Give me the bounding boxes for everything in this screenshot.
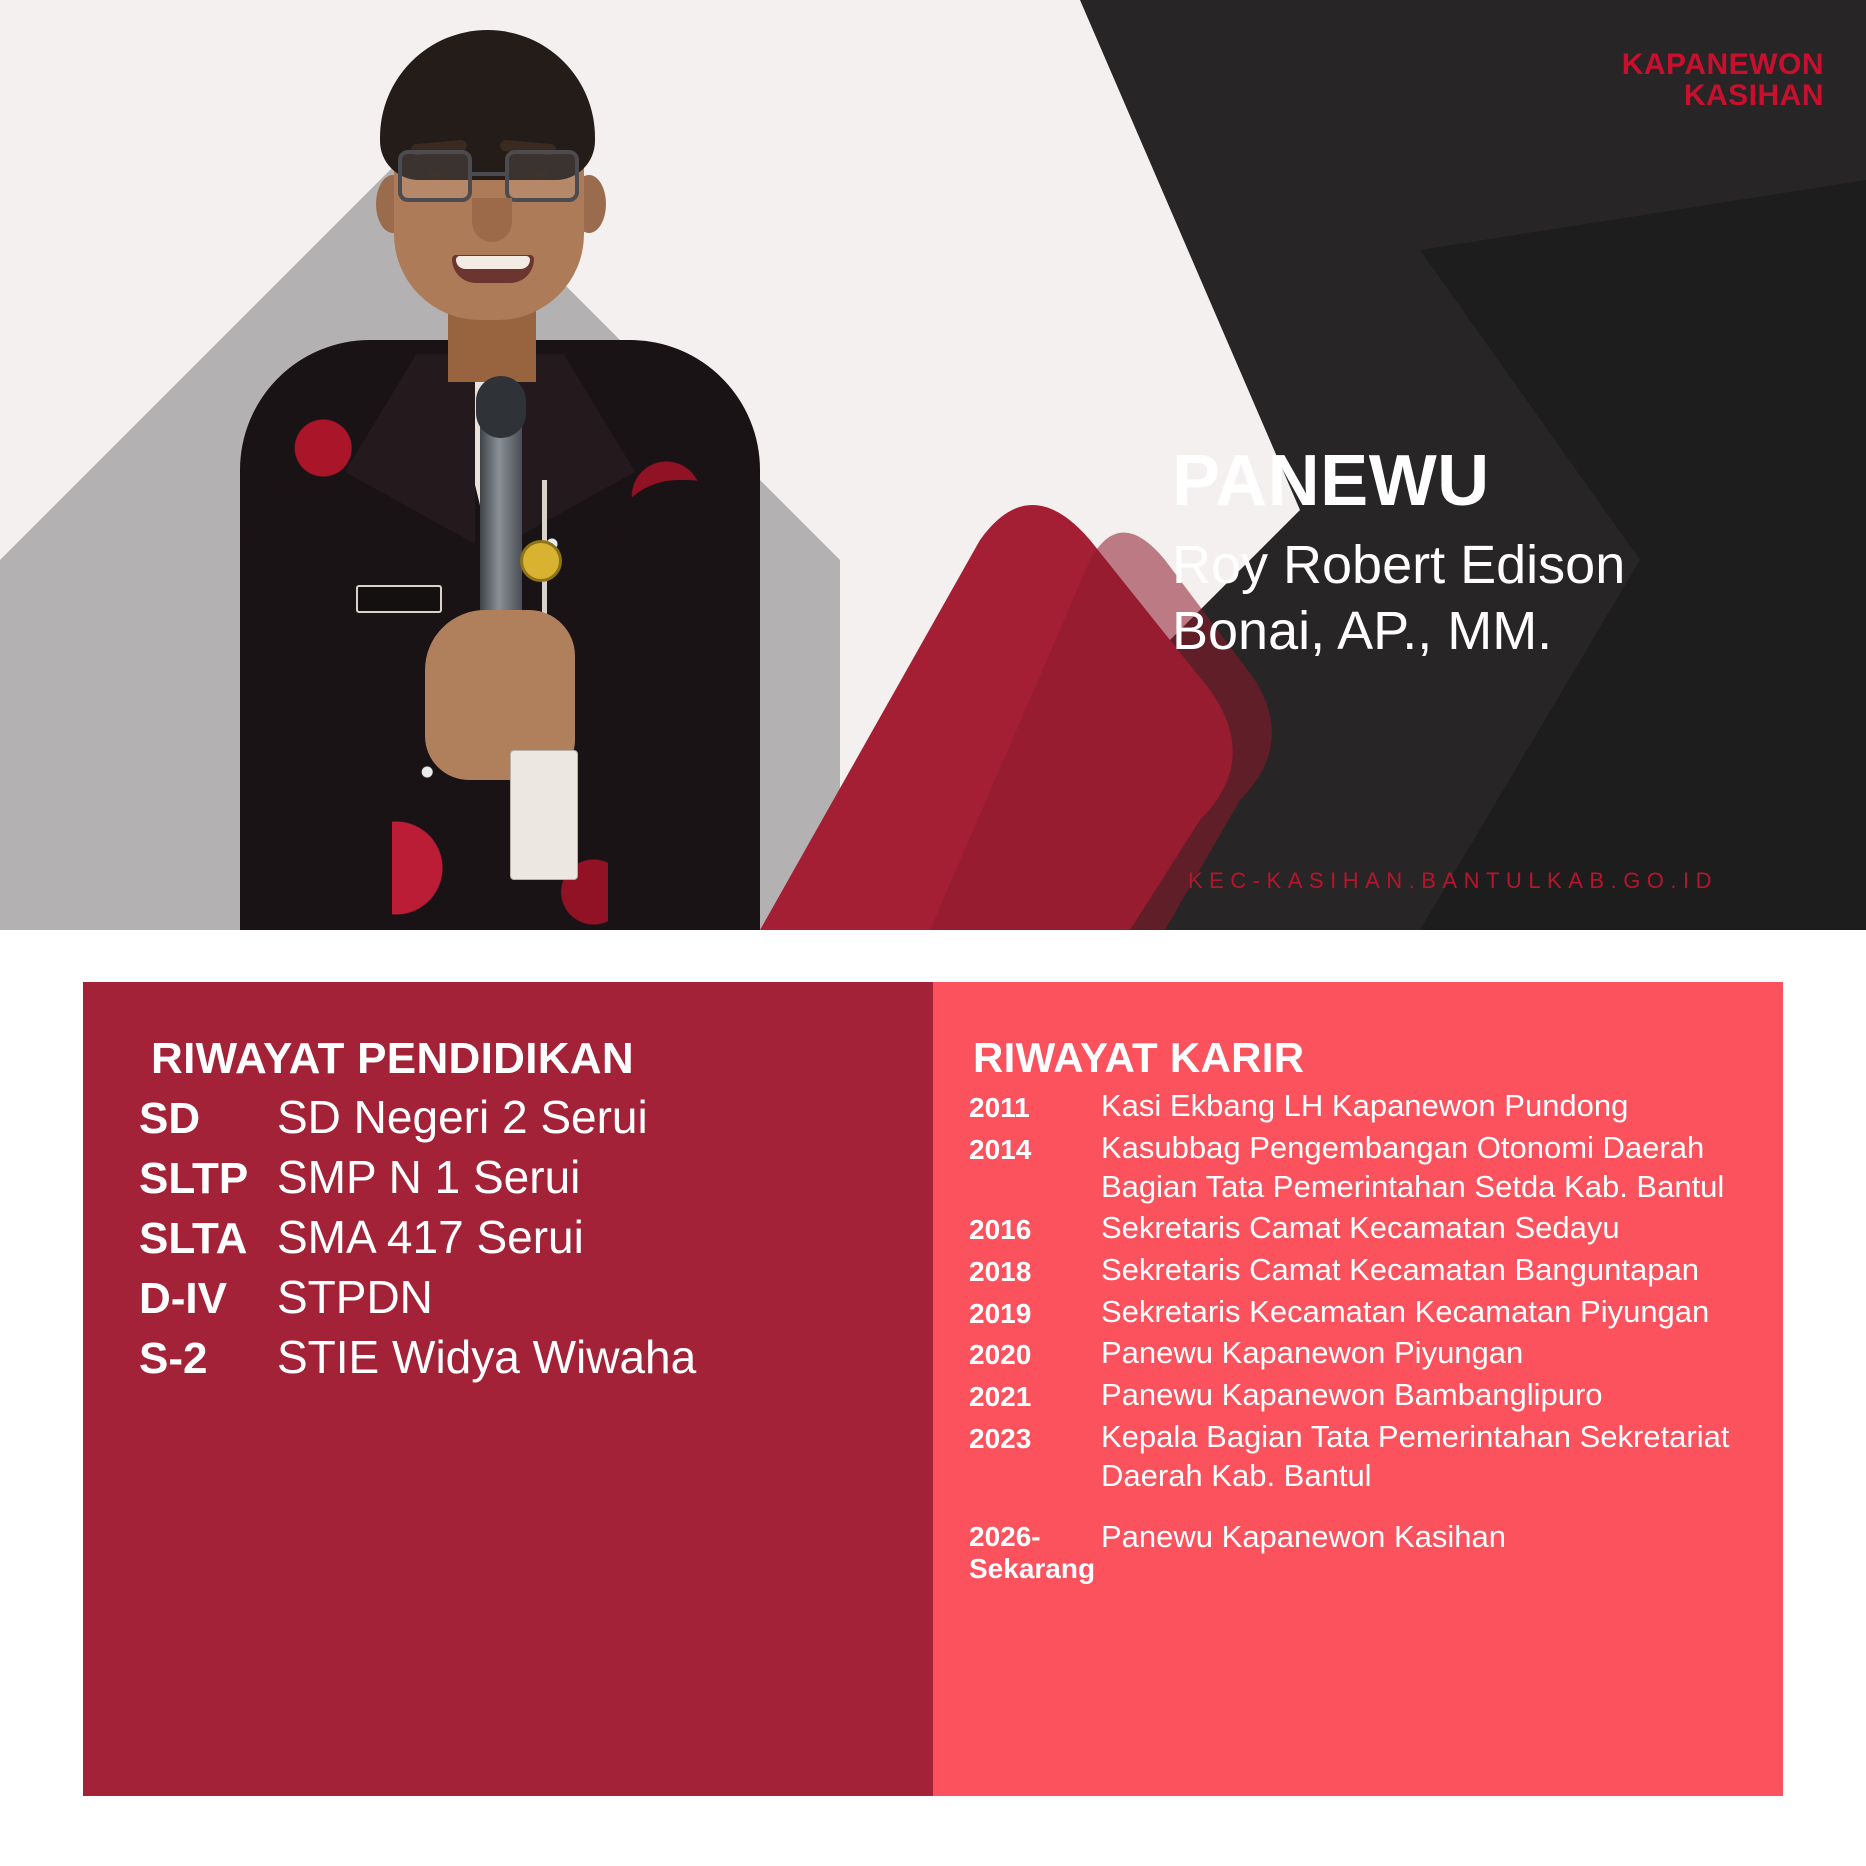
career-year: 2021 xyxy=(969,1375,1101,1415)
education-school: SD Negeri 2 Serui xyxy=(277,1090,648,1144)
brand-logo-line1: KAPANEWON xyxy=(1622,50,1824,81)
career-row: 2018Sekretaris Camat Kecamatan Banguntap… xyxy=(969,1250,1747,1290)
microphone-head xyxy=(476,376,526,438)
career-row: 2023Kepala Bagian Tata Pemerintahan Sekr… xyxy=(969,1417,1747,1495)
career-position: Sekretaris Camat Kecamatan Sedayu xyxy=(1101,1208,1620,1248)
person-name: Roy Robert Edison Bonai, AP., MM. xyxy=(1172,533,1772,665)
brand-logo-line2: KASIHAN xyxy=(1622,81,1824,112)
career-year: 2018 xyxy=(969,1250,1101,1290)
uniform-emblem-icon xyxy=(520,540,562,582)
education-school: STPDN xyxy=(277,1270,433,1324)
website-url: KEC-KASIHAN.BANTULKAB.GO.ID xyxy=(1188,868,1718,894)
portrait-photo xyxy=(180,10,800,930)
glasses-bridge xyxy=(472,172,505,176)
career-heading: RIWAYAT KARIR xyxy=(969,1034,1747,1082)
career-row: 2021Panewu Kapanewon Bambanglipuro xyxy=(969,1375,1747,1415)
career-position: Kasubbag Pengembangan Otonomi Daerah Bag… xyxy=(1101,1128,1747,1206)
title-block: PANEWU Roy Robert Edison Bonai, AP., MM. xyxy=(1172,445,1772,665)
career-year: 2014 xyxy=(969,1128,1101,1206)
education-heading: RIWAYAT PENDIDIKAN xyxy=(123,1034,893,1084)
education-row: SLTASMA 417 Serui xyxy=(123,1210,893,1264)
career-row: 2014Kasubbag Pengembangan Otonomi Daerah… xyxy=(969,1128,1747,1206)
career-position: Panewu Kapanewon Piyungan xyxy=(1101,1333,1523,1373)
education-panel: RIWAYAT PENDIDIKAN SDSD Negeri 2 SeruiSL… xyxy=(83,982,933,1796)
education-school: SMA 417 Serui xyxy=(277,1210,584,1264)
career-row: 2020Panewu Kapanewon Piyungan xyxy=(969,1333,1747,1373)
education-row: SLTPSMP N 1 Serui xyxy=(123,1150,893,1204)
career-year: 2016 xyxy=(969,1208,1101,1248)
education-row: S-2STIE Widya Wiwaha xyxy=(123,1330,893,1384)
glasses-lens-left xyxy=(398,150,472,202)
career-year: 2011 xyxy=(969,1086,1101,1126)
id-card xyxy=(510,750,578,880)
education-level: D-IV xyxy=(139,1274,277,1324)
education-list: SDSD Negeri 2 SeruiSLTPSMP N 1 SeruiSLTA… xyxy=(123,1090,893,1384)
career-panel: RIWAYAT KARIR 2011Kasi Ekbang LH Kapanew… xyxy=(933,982,1783,1796)
career-year: 2026- Sekarang xyxy=(969,1517,1101,1585)
info-panels: RIWAYAT PENDIDIKAN SDSD Negeri 2 SeruiSL… xyxy=(83,982,1783,1796)
career-row: 2026- SekarangPanewu Kapanewon Kasihan xyxy=(969,1517,1747,1585)
career-row: 2011Kasi Ekbang LH Kapanewon Pundong xyxy=(969,1086,1747,1126)
education-level: SLTP xyxy=(139,1154,277,1204)
career-position: Sekretaris Camat Kecamatan Banguntapan xyxy=(1101,1250,1699,1290)
education-school: STIE Widya Wiwaha xyxy=(277,1330,696,1384)
career-year: 2019 xyxy=(969,1292,1101,1332)
education-level: S-2 xyxy=(139,1334,277,1384)
portrait-teeth xyxy=(456,256,530,269)
name-tag-badge xyxy=(356,585,442,613)
career-row: 2019Sekretaris Kecamatan Kecamatan Piyun… xyxy=(969,1292,1747,1332)
career-row: 2016Sekretaris Camat Kecamatan Sedayu xyxy=(969,1208,1747,1248)
education-row: D-IVSTPDN xyxy=(123,1270,893,1324)
role-title: PANEWU xyxy=(1172,445,1772,517)
glasses-lens-right xyxy=(505,150,579,202)
career-position: Sekretaris Kecamatan Kecamatan Piyungan xyxy=(1101,1292,1709,1332)
brand-logo: KAPANEWON KASIHAN xyxy=(1622,50,1824,111)
education-school: SMP N 1 Serui xyxy=(277,1150,580,1204)
career-year: 2020 xyxy=(969,1333,1101,1373)
education-level: SD xyxy=(139,1094,277,1144)
education-row: SDSD Negeri 2 Serui xyxy=(123,1090,893,1144)
hero-banner: KAPANEWON KASIHAN PANEWU Roy Robert Edis… xyxy=(0,0,1866,930)
career-year: 2023 xyxy=(969,1417,1101,1495)
portrait-nose xyxy=(472,198,512,242)
career-position: Panewu Kapanewon Kasihan xyxy=(1101,1517,1506,1585)
career-position: Panewu Kapanewon Bambanglipuro xyxy=(1101,1375,1603,1415)
career-position: Kepala Bagian Tata Pemerintahan Sekretar… xyxy=(1101,1417,1747,1495)
career-position: Kasi Ekbang LH Kapanewon Pundong xyxy=(1101,1086,1628,1126)
portrait-right-arm xyxy=(608,480,758,930)
education-level: SLTA xyxy=(139,1214,277,1264)
portrait-left-arm xyxy=(242,480,392,930)
career-list: 2011Kasi Ekbang LH Kapanewon Pundong2014… xyxy=(969,1086,1747,1586)
